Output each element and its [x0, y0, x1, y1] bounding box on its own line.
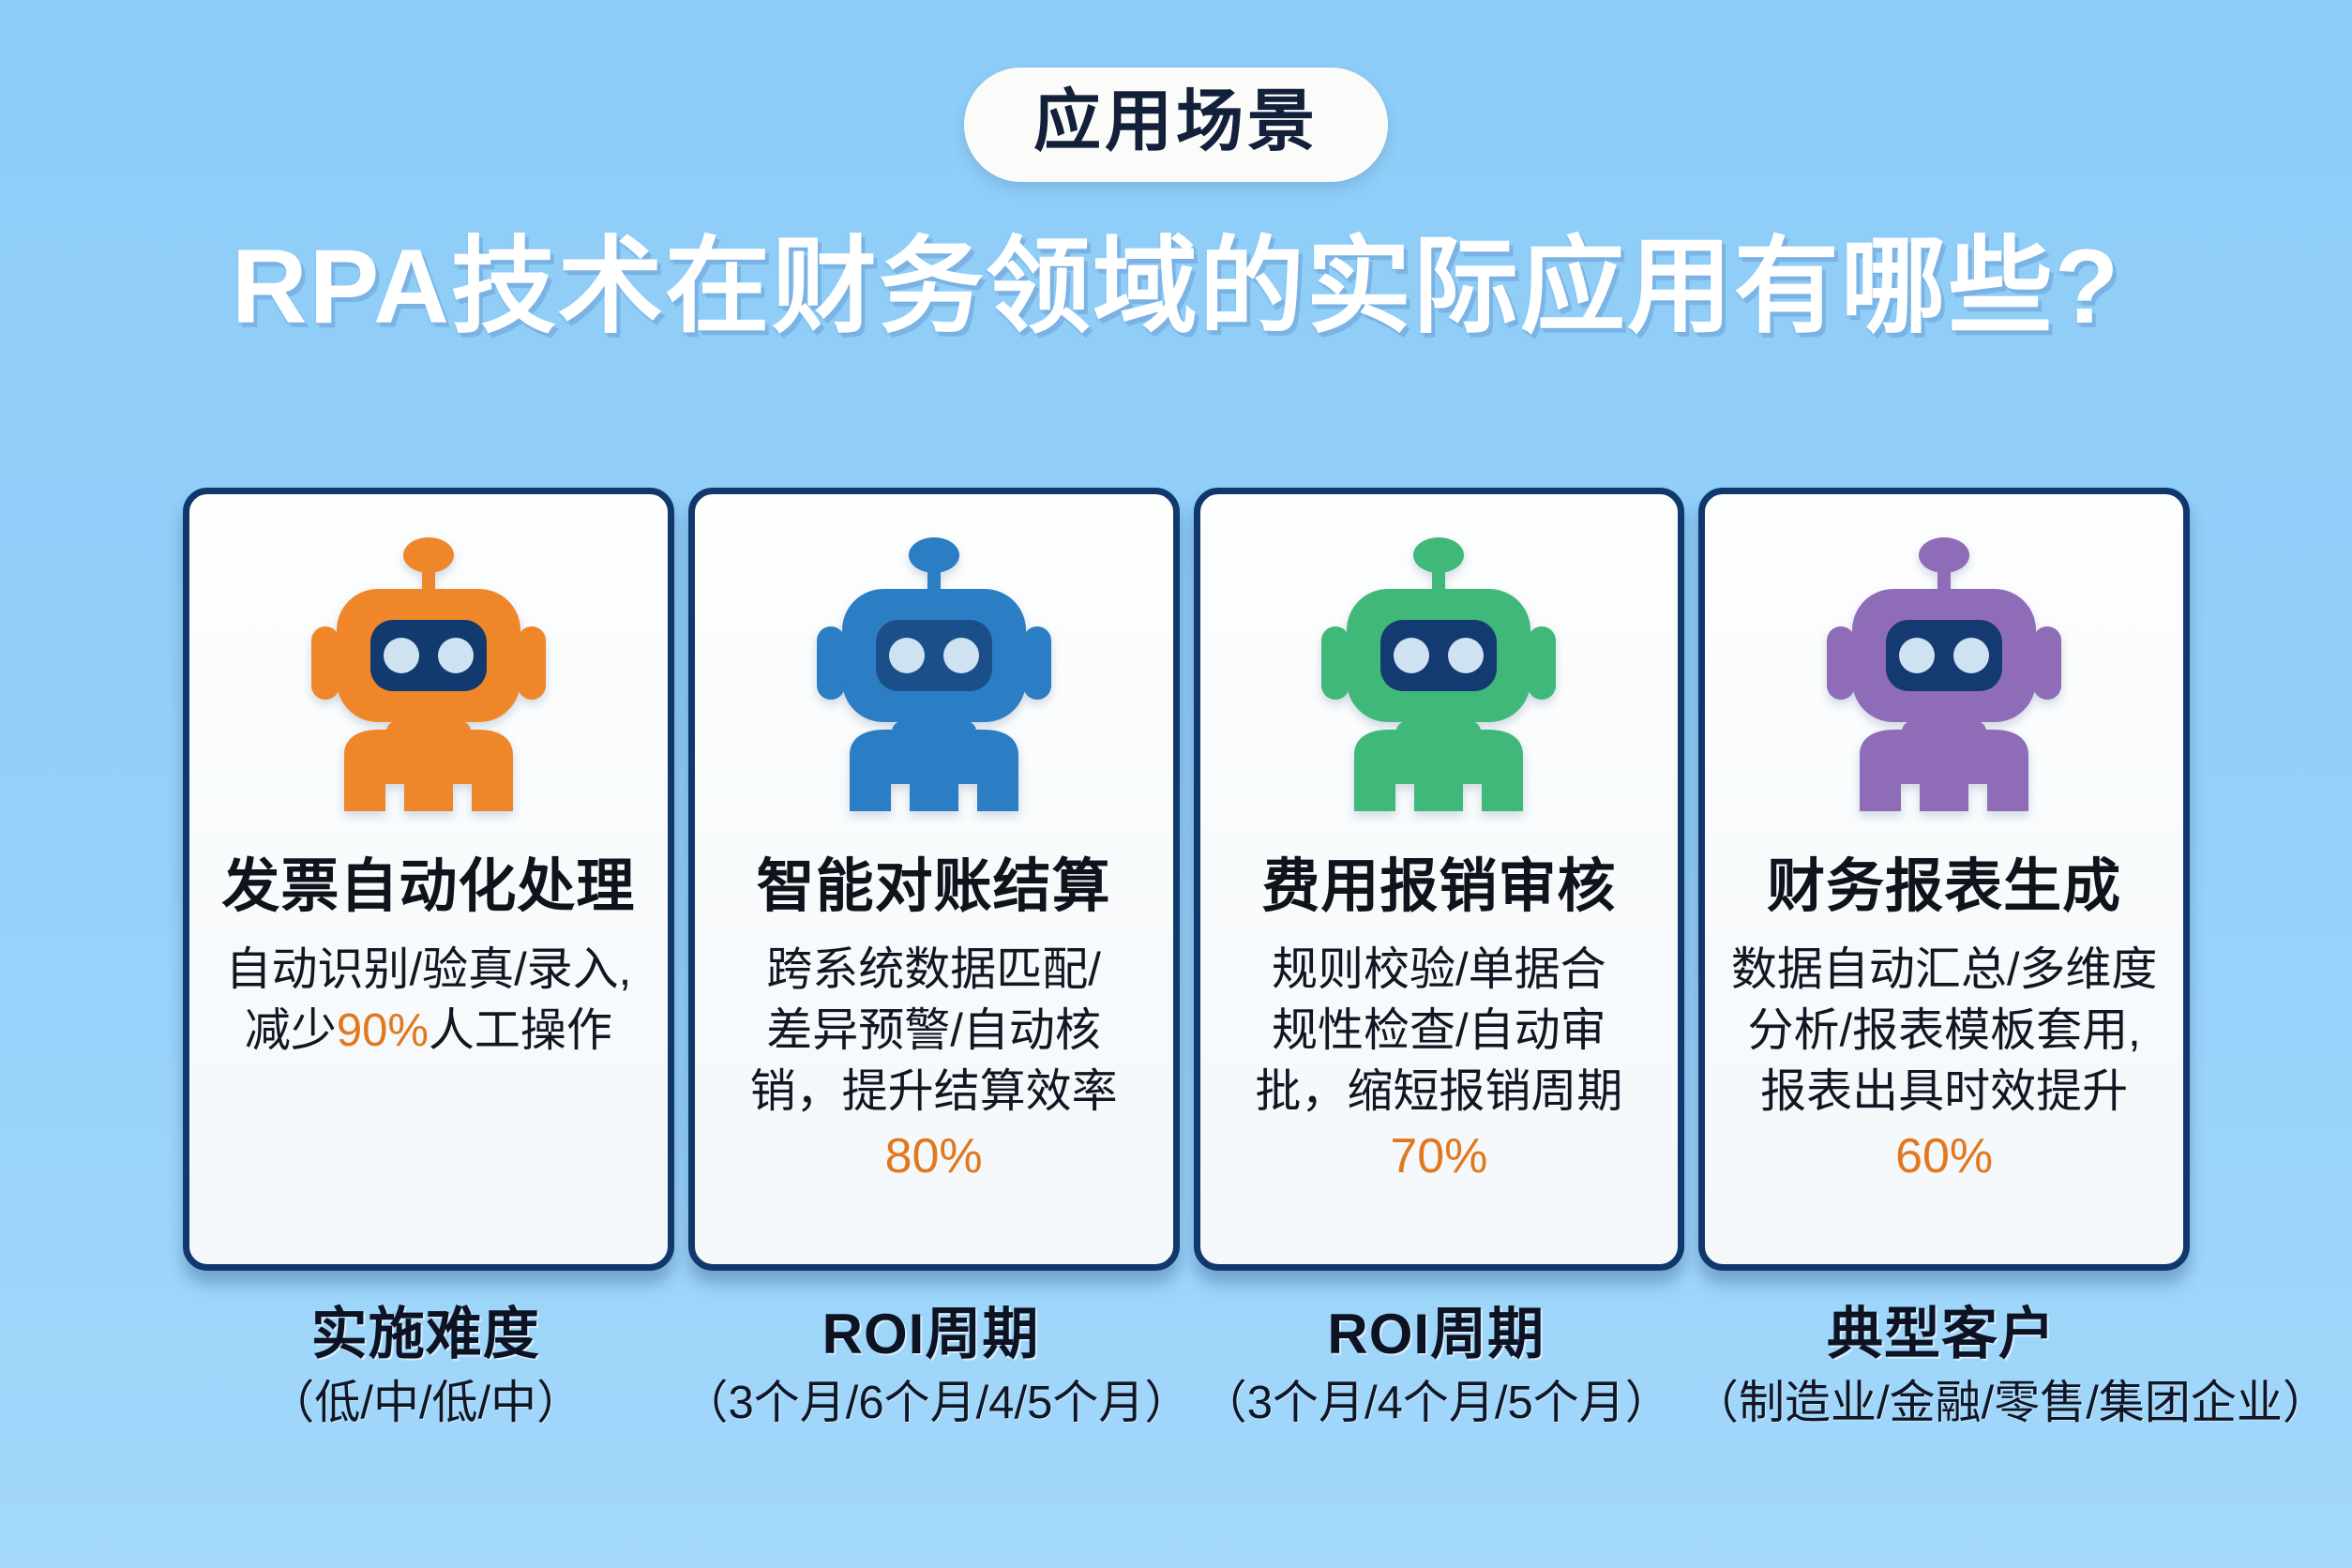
robot-icon [1298, 537, 1579, 823]
scenario-cards: 发票自动化处理 自动识别/验真/录入, 减少90%人工操作 智能对账结算 跨系统… [183, 488, 2190, 1271]
robot-icon [793, 537, 1075, 823]
section-badge-label: 应用场景 [1033, 88, 1319, 156]
footer-column: 典型客户 （制造业/金融/零售/集团企业） [1693, 1304, 2190, 1429]
card-title: 智能对账结算 [757, 855, 1111, 919]
card-desc-line-3: 批，缩短报销周期 [1255, 1066, 1622, 1117]
page-title-container: RPA技术在财务领域的实际应用有哪些? [0, 231, 2352, 344]
card-description: 自动识别/验真/录入, 减少90%人工操作 [225, 940, 631, 1061]
card-desc-line-2-before: 减少 [245, 1005, 337, 1056]
footer-column: ROI周期 （3个月/4个月/5个月） [1194, 1304, 1680, 1429]
card-desc-line-3: 报表出具时效提升 [1760, 1066, 2128, 1117]
footer-title: 典型客户 [1693, 1304, 2190, 1365]
page-title: RPA技术在财务领域的实际应用有哪些? [232, 231, 2121, 344]
card-desc-line-1: 规则校验/单据合 [1272, 944, 1606, 995]
scenario-card[interactable]: 发票自动化处理 自动识别/验真/录入, 减少90%人工操作 [183, 488, 674, 1271]
footer-title: 实施难度 [183, 1304, 669, 1365]
scenario-card[interactable]: 财务报表生成 数据自动汇总/多维度 分析/报表模板套用, 报表出具时效提升 60… [1698, 488, 2190, 1271]
card-percent: 80% [885, 1127, 983, 1185]
badge-container: 应用场景 [0, 0, 2352, 182]
scenario-card[interactable]: 费用报销审核 规则校验/单据合 规性检查/自动审 批，缩短报销周期 70% [1194, 488, 1685, 1271]
footer-subtitle: （3个月/4个月/5个月） [1194, 1377, 1680, 1429]
card-desc-line-1: 跨系统数据匹配/ [766, 944, 1101, 995]
footer-subtitle: （3个月/6个月/4/5个月） [683, 1377, 1180, 1429]
card-percent: 60% [1895, 1127, 1993, 1185]
scenario-card[interactable]: 智能对账结算 跨系统数据匹配/ 差异预警/自动核 销，提升结算效率 80% [688, 488, 1180, 1271]
card-title: 费用报销审核 [1261, 855, 1616, 919]
card-desc-line-1: 自动识别/验真/录入, [225, 944, 631, 995]
footer-column: 实施难度 （低/中/低/中） [183, 1304, 669, 1429]
footer-subtitle: （制造业/金融/零售/集团企业） [1693, 1377, 2190, 1429]
card-description: 跨系统数据匹配/ 差异预警/自动核 销，提升结算效率 [750, 940, 1118, 1122]
card-desc-line-2: 分析/报表模板套用, [1748, 1005, 2141, 1056]
footer-title: ROI周期 [1194, 1304, 1680, 1365]
robot-icon [288, 537, 569, 823]
footer-subtitle: （低/中/低/中） [183, 1377, 669, 1429]
footer-title: ROI周期 [683, 1304, 1180, 1365]
footer-labels: 实施难度 （低/中/低/中）ROI周期 （3个月/6个月/4/5个月）ROI周期… [183, 1304, 2190, 1429]
card-title: 财务报表生成 [1767, 855, 2121, 919]
card-desc-line-3: 销，提升结算效率 [750, 1066, 1118, 1117]
card-percent: 70% [1390, 1127, 1487, 1185]
card-description: 规则校验/单据合 规性检查/自动审 批，缩短报销周期 [1255, 940, 1622, 1122]
card-desc-line-1: 数据自动汇总/多维度 [1731, 944, 2158, 995]
card-desc-line-2-after: 人工操作 [429, 1005, 612, 1056]
footer-column: ROI周期 （3个月/6个月/4/5个月） [683, 1304, 1180, 1429]
card-title: 发票自动化处理 [221, 855, 635, 919]
robot-icon [1803, 537, 2085, 823]
card-percent: 90% [337, 1005, 429, 1056]
card-desc-line-2: 规性检查/自动审 [1272, 1005, 1606, 1056]
section-badge: 应用场景 [964, 68, 1388, 182]
card-description: 数据自动汇总/多维度 分析/报表模板套用, 报表出具时效提升 [1731, 940, 2158, 1122]
card-desc-line-2: 差异预警/自动核 [766, 1005, 1101, 1056]
